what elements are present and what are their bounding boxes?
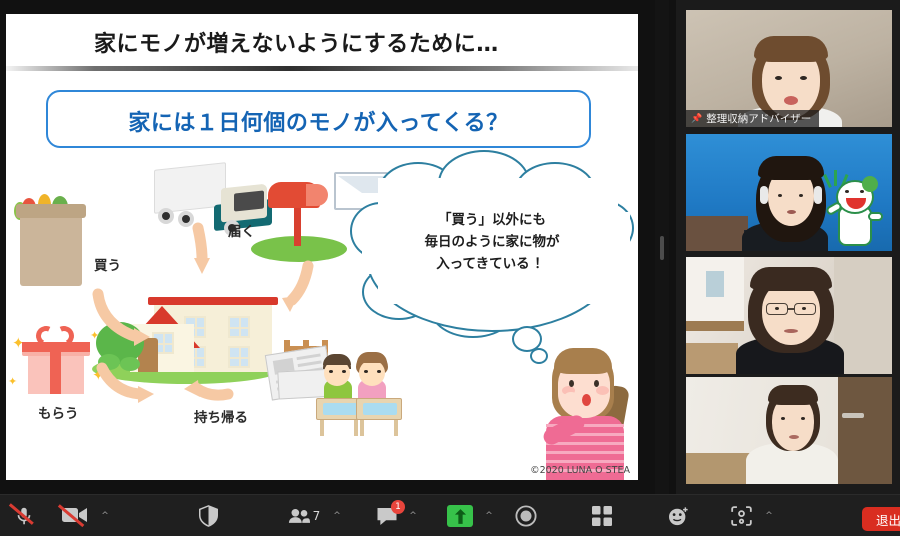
copyright-text: ©2020 LUNA O STEA bbox=[530, 465, 630, 476]
bubble-line-3: 入ってきている ！ bbox=[366, 254, 618, 276]
participant-tile-3[interactable] bbox=[686, 257, 892, 374]
share-caret[interactable]: ^ bbox=[482, 495, 496, 536]
slide-header: 家にモノが増えないようにするために… bbox=[6, 14, 638, 66]
drag-grip-icon[interactable] bbox=[660, 236, 664, 260]
pin-icon: 📌 bbox=[691, 114, 702, 124]
question-box: 家には１日何個のモノが入ってくる？ bbox=[46, 90, 591, 148]
video-options-caret[interactable]: ^ bbox=[98, 495, 112, 536]
illustration-canvas: 買う 届く bbox=[6, 154, 638, 480]
share-screen-button[interactable] bbox=[440, 495, 480, 536]
shared-screen-stage[interactable]: 家にモノが増えないようにするために… 家には１日何個のモノが入ってくる？ 買う bbox=[0, 0, 676, 494]
chat-button[interactable]: 1 bbox=[368, 495, 406, 536]
chat-caret[interactable]: ^ bbox=[406, 495, 420, 536]
participant-name-tag-1: 📌 整理収納アドバイザー bbox=[686, 110, 819, 127]
mute-button[interactable] bbox=[4, 495, 44, 536]
participants-button[interactable]: 7 bbox=[276, 495, 332, 536]
participant-thumbnail-strip[interactable]: 📌 整理収納アドバイザー bbox=[676, 0, 900, 494]
security-button[interactable] bbox=[190, 495, 226, 536]
participant-tile-4[interactable] bbox=[686, 377, 892, 484]
participants-count: 7 bbox=[313, 509, 321, 523]
question-text: 家には１日何個のモノが入ってくる？ bbox=[48, 105, 589, 137]
apps-button[interactable] bbox=[722, 495, 760, 536]
chat-unread-badge: 1 bbox=[391, 500, 405, 514]
record-button[interactable] bbox=[508, 495, 544, 536]
panel-divider-handle[interactable] bbox=[655, 0, 669, 494]
leave-meeting-button[interactable]: 退出 bbox=[862, 507, 900, 531]
thought-bubble-text: 「買う」以外にも 毎日のように家に物が 入ってきている ！ bbox=[366, 210, 618, 276]
reactions-button[interactable] bbox=[660, 495, 698, 536]
participant-tile-2[interactable] bbox=[686, 134, 892, 251]
meeting-toolbar[interactable]: ^ ^ 7 ^ bbox=[0, 494, 900, 536]
breakout-rooms-button[interactable] bbox=[584, 495, 620, 536]
presentation-slide: 家にモノが増えないようにするために… 家には１日何個のモノが入ってくる？ 買う bbox=[6, 14, 638, 480]
bubble-line-2: 毎日のように家に物が bbox=[366, 232, 618, 254]
zoom-meeting-window: 家にモノが増えないようにするために… 家には１日何個のモノが入ってくる？ 買う bbox=[0, 0, 900, 536]
participant-name-1: 整理収納アドバイザー bbox=[706, 111, 811, 126]
bubble-line-1: 「買う」以外にも bbox=[366, 210, 618, 232]
share-screen-icon bbox=[447, 505, 473, 527]
participant-tile-1[interactable]: 📌 整理収納アドバイザー bbox=[686, 10, 892, 127]
slide-header-rule bbox=[6, 66, 638, 71]
slide-title: 家にモノが増えないようにするために… bbox=[94, 26, 499, 58]
apps-caret[interactable]: ^ bbox=[762, 495, 776, 536]
participants-caret[interactable]: ^ bbox=[330, 495, 344, 536]
video-button[interactable] bbox=[52, 495, 98, 536]
